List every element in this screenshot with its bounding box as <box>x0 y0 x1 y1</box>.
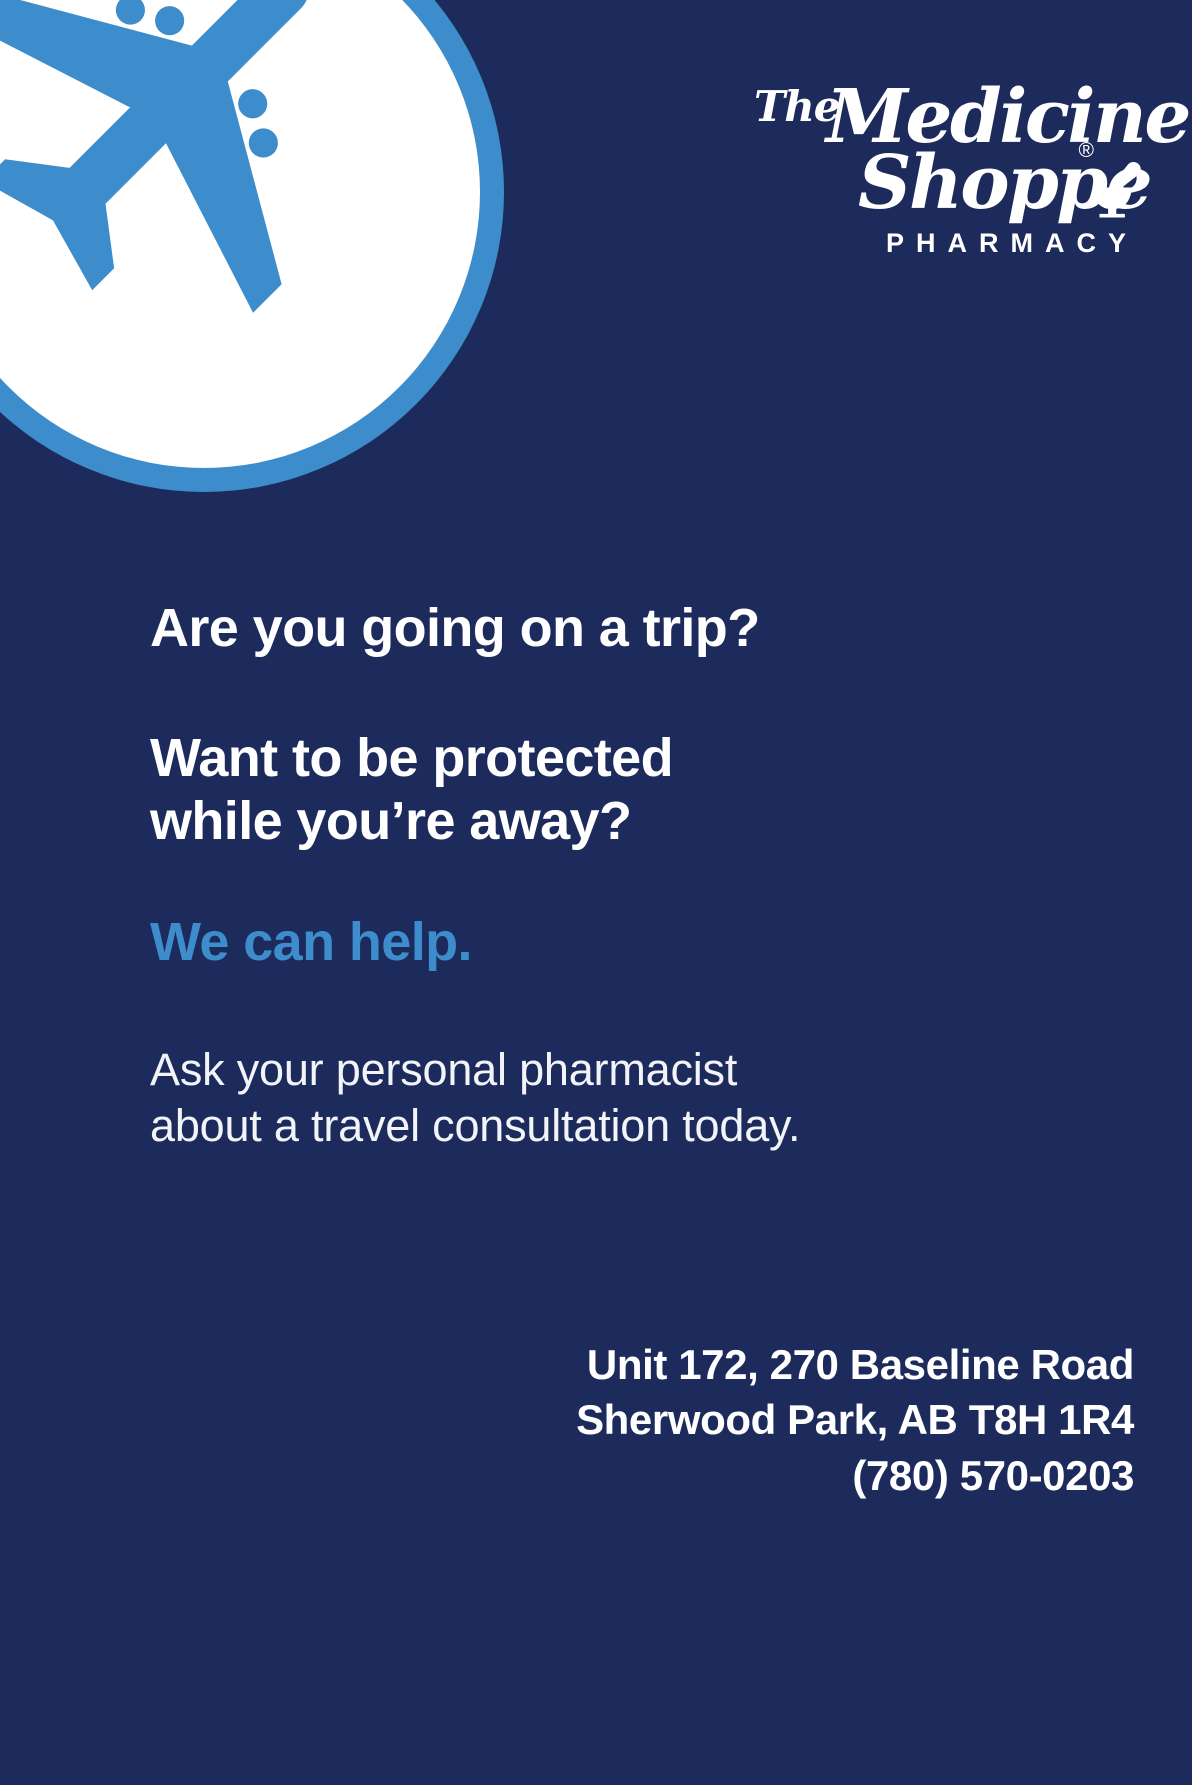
brand-logo: The Medicine Shoppe ® PHARMACY <box>740 78 1140 238</box>
copy-block: Are you going on a trip? Want to be prot… <box>150 600 1050 1155</box>
store-address-block: Unit 172, 270 Baseline Road Sherwood Par… <box>576 1337 1134 1503</box>
tagline: We can help. <box>150 914 1050 971</box>
headline-secondary-line-1: Want to be protected <box>150 727 870 790</box>
address-phone: (780) 570-0203 <box>576 1448 1134 1503</box>
mortar-and-pestle-icon <box>1090 160 1144 218</box>
airplane-badge <box>0 0 504 492</box>
body-copy-line-2: about a travel consultation today. <box>150 1098 1050 1155</box>
travel-consultation-poster: The Medicine Shoppe ® PHARMACY Are you g… <box>0 0 1192 1785</box>
body-copy: Ask your personal pharmacist about a tra… <box>150 1042 1050 1155</box>
brand-pharmacy-text: PHARMACY <box>886 230 1140 257</box>
brand-lockup: The Medicine Shoppe ® PHARMACY <box>740 78 1140 238</box>
headline-primary: Are you going on a trip? <box>150 600 1050 657</box>
airplane-icon <box>0 0 392 368</box>
registered-trademark-icon: ® <box>1079 140 1094 161</box>
address-city-province-postal: Sherwood Park, AB T8H 1R4 <box>576 1392 1134 1447</box>
address-street: Unit 172, 270 Baseline Road <box>576 1337 1134 1392</box>
headline-secondary-line-2: while you’re away? <box>150 790 870 853</box>
body-copy-line-1: Ask your personal pharmacist <box>150 1042 1050 1099</box>
headline-secondary: Want to be protected while you’re away? <box>150 727 870 852</box>
